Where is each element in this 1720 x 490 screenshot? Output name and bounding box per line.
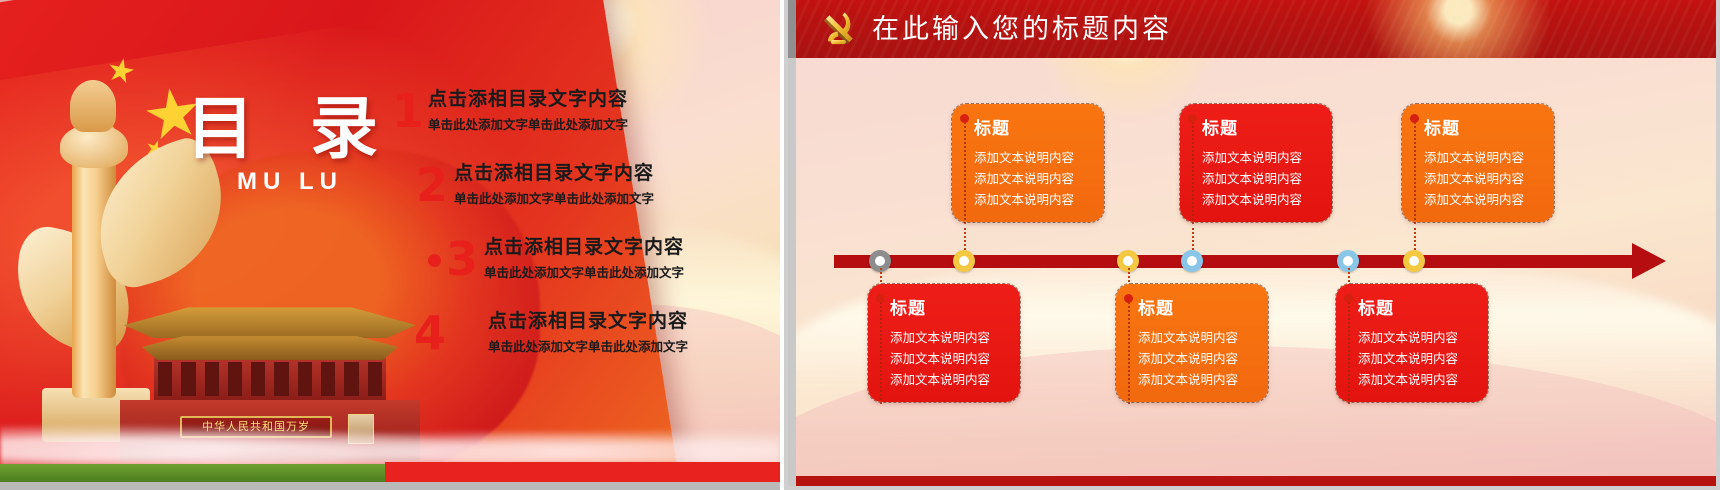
card-line: 添加文本说明内容	[1138, 348, 1258, 369]
card-dotted-connector	[1414, 118, 1416, 224]
card-line: 添加文本说明内容	[890, 348, 1010, 369]
card-dotted-connector	[880, 298, 882, 404]
card-line: 添加文本说明内容	[1138, 327, 1258, 348]
card-line: 添加文本说明内容	[1202, 189, 1322, 210]
timeline-card-top-3[interactable]: 标题 添加文本说明内容 添加文本说明内容 添加文本说明内容	[1402, 104, 1554, 222]
card-line: 添加文本说明内容	[974, 147, 1094, 168]
card-line: 添加文本说明内容	[974, 168, 1094, 189]
toc-number-2: 2	[416, 162, 448, 208]
card-title: 标题	[974, 114, 1094, 139]
timeline-card-top-2[interactable]: 标题 添加文本说明内容 添加文本说明内容 添加文本说明内容	[1180, 104, 1332, 222]
gate-columns	[158, 362, 382, 396]
card-line: 添加文本说明内容	[974, 189, 1094, 210]
right-slide-canvas: 标题 添加文本说明内容 添加文本说明内容 添加文本说明内容 标题 添加文本说明内…	[796, 0, 1716, 480]
toc-title-4: 点击添相目录文字内容	[488, 310, 688, 332]
card-dotted-connector	[1192, 118, 1194, 224]
card-title: 标题	[1358, 294, 1478, 319]
header-left-edge	[788, 0, 796, 58]
card-dotted-connector	[1348, 298, 1350, 404]
gate-roof-upper	[124, 304, 416, 338]
toc-sub-1: 单击此处添加文字单击此处添加文字	[428, 114, 628, 133]
card-line: 添加文本说明内容	[1202, 147, 1322, 168]
timeline-card-top-1[interactable]: 标题 添加文本说明内容 添加文本说明内容 添加文本说明内容	[952, 104, 1104, 222]
card-pin-dot-icon	[1344, 294, 1353, 303]
slide-right-timeline[interactable]: 标题 添加文本说明内容 添加文本说明内容 添加文本说明内容 标题 添加文本说明内…	[784, 0, 1720, 490]
timeline-arrow-head-icon	[1632, 243, 1666, 279]
right-slide-frame: 标题 添加文本说明内容 添加文本说明内容 添加文本说明内容 标题 添加文本说明内…	[788, 0, 1716, 486]
fountain-spray	[0, 404, 780, 468]
card-line: 添加文本说明内容	[1358, 327, 1478, 348]
card-title: 标题	[890, 294, 1010, 319]
toc-number-4: 4	[414, 310, 446, 356]
card-pin-dot-icon	[876, 294, 885, 303]
card-line: 添加文本说明内容	[890, 369, 1010, 390]
card-line: 添加文本说明内容	[1424, 147, 1544, 168]
timeline-node-6[interactable]	[1403, 250, 1425, 272]
toc-sub-2: 单击此处添加文字单击此处添加文字	[454, 188, 654, 207]
toc-title-1: 点击添相目录文字内容	[428, 88, 628, 110]
card-title: 标题	[1202, 114, 1322, 139]
card-line: 添加文本说明内容	[1138, 369, 1258, 390]
right-slide-title-bar: 在此输入您的标题内容	[796, 0, 1716, 58]
toc-heading-lockup: 目 录 MU LU	[170, 96, 410, 196]
timeline-node-2[interactable]	[953, 250, 975, 272]
card-pin-dot-icon	[960, 114, 969, 123]
party-hammer-sickle-icon	[816, 6, 862, 52]
toc-sub-3: 单击此处添加文字单击此处添加文字	[484, 262, 684, 281]
toc-heading-pinyin: MU LU	[170, 168, 410, 196]
card-dotted-connector	[964, 118, 966, 224]
toc-number-3: 3	[446, 236, 478, 282]
toc-number-1: 1	[392, 88, 424, 134]
toc-heading-chinese: 目 录	[170, 96, 410, 164]
timeline-node-4[interactable]	[1181, 250, 1203, 272]
right-slide-bottom-red-bar	[796, 476, 1716, 486]
card-line: 添加文本说明内容	[1358, 348, 1478, 369]
toc-title-3: 点击添相目录文字内容	[484, 236, 684, 258]
timeline-card-bottom-3[interactable]: 标题 添加文本说明内容 添加文本说明内容 添加文本说明内容	[1336, 284, 1488, 402]
card-line: 添加文本说明内容	[1424, 168, 1544, 189]
toc-item-2[interactable]: 2 点击添相目录文字内容 单击此处添加文字单击此处添加文字	[392, 158, 772, 232]
slide-title: 在此输入您的标题内容	[872, 10, 1172, 50]
slide-pair-canvas: 中华人民共和国万岁 目 录 MU LU 1 点击添相目录文字内容 单击此处添加文…	[0, 0, 1720, 490]
card-line: 添加文本说明内容	[1424, 189, 1544, 210]
card-line: 添加文本说明内容	[1358, 369, 1478, 390]
timeline-card-bottom-1[interactable]: 标题 添加文本说明内容 添加文本说明内容 添加文本说明内容	[868, 284, 1020, 402]
card-dotted-connector	[1128, 298, 1130, 404]
toc-item-1[interactable]: 1 点击添相目录文字内容 单击此处添加文字单击此处添加文字	[392, 84, 772, 158]
left-slide-bottom-bar	[0, 482, 780, 490]
toc-item-3[interactable]: 3 点击添相目录文字内容 单击此处添加文字单击此处添加文字	[392, 232, 772, 306]
slide-left-table-of-contents[interactable]: 中华人民共和国万岁 目 录 MU LU 1 点击添相目录文字内容 单击此处添加文…	[0, 0, 780, 490]
card-line: 添加文本说明内容	[890, 327, 1010, 348]
toc-list: 1 点击添相目录文字内容 单击此处添加文字单击此处添加文字 2 点击添相目录文字…	[392, 84, 772, 380]
card-pin-dot-icon	[1410, 114, 1419, 123]
timeline-card-bottom-2[interactable]: 标题 添加文本说明内容 添加文本说明内容 添加文本说明内容	[1116, 284, 1268, 402]
card-pin-dot-icon	[1124, 294, 1133, 303]
gate-roof-lower	[142, 334, 398, 360]
card-line: 添加文本说明内容	[1202, 168, 1322, 189]
toc-item-4[interactable]: 4 点击添相目录文字内容 单击此处添加文字单击此处添加文字	[392, 306, 772, 380]
card-pin-dot-icon	[1188, 114, 1197, 123]
toc-sub-4: 单击此处添加文字单击此处添加文字	[488, 336, 688, 355]
pillar-beast-icon	[70, 80, 116, 132]
toc-title-2: 点击添相目录文字内容	[454, 162, 654, 184]
card-title: 标题	[1138, 294, 1258, 319]
card-title: 标题	[1424, 114, 1544, 139]
toc-bullet-dot-icon	[428, 254, 441, 267]
